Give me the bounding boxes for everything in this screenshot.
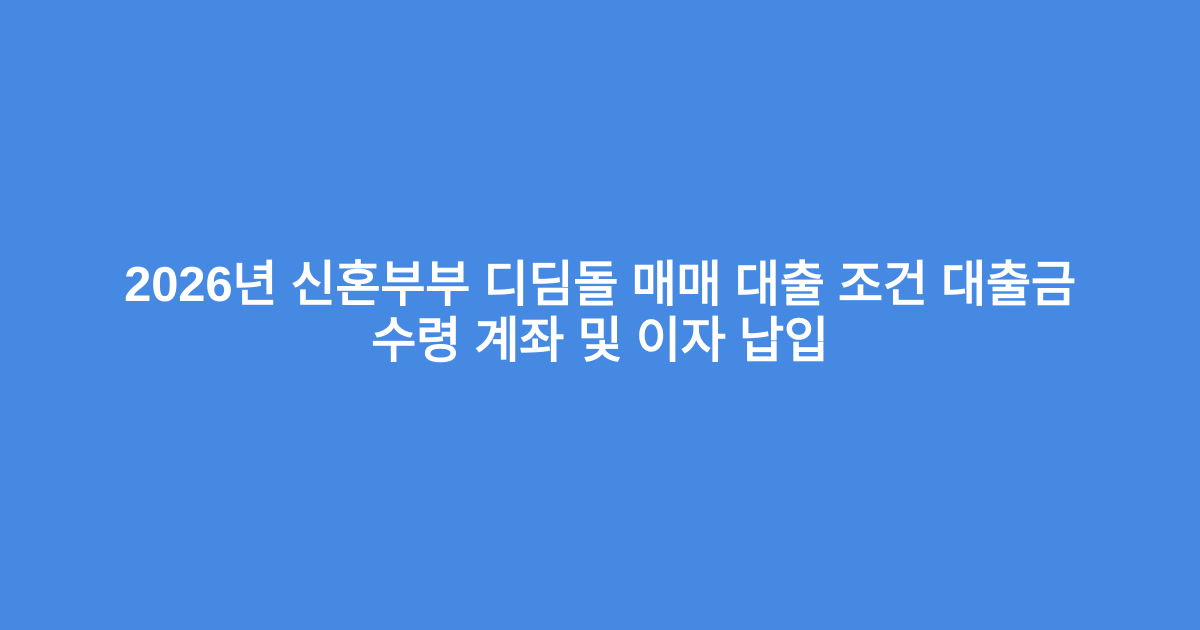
title-block: 2026년 신혼부부 디딤돌 매매 대출 조건 대출금 수령 계좌 및 이자 납… xyxy=(70,257,1130,369)
og-image-card: 2026년 신혼부부 디딤돌 매매 대출 조건 대출금 수령 계좌 및 이자 납… xyxy=(0,0,1200,630)
page-title: 2026년 신혼부부 디딤돌 매매 대출 조건 대출금 수령 계좌 및 이자 납… xyxy=(70,257,1130,369)
